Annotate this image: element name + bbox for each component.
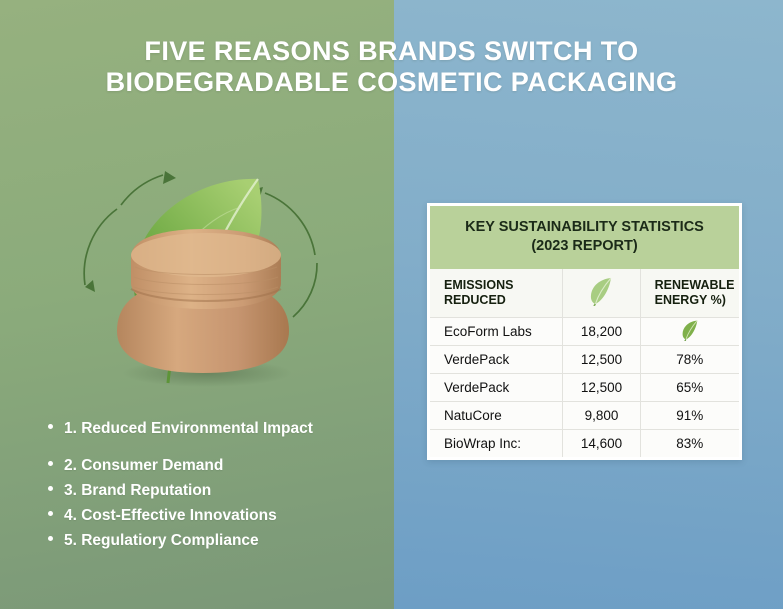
- leaf-icon: [680, 319, 700, 344]
- list-item-label: 5. Regulatiory Compliance: [64, 531, 259, 551]
- poster-title: FIVE REASONS BRANDS SWITCH TO BIODEGRADA…: [0, 36, 783, 98]
- cell-emissions: 12,500: [563, 345, 640, 373]
- table-header-row: EMISSIONS REDUCED RENEWAB: [430, 269, 739, 317]
- statistics-table: EMISSIONS REDUCED RENEWAB: [430, 269, 739, 457]
- cell-renewable: 83%: [640, 429, 739, 457]
- column-header-renewable: RENEWABLE ENERGY %): [640, 269, 739, 317]
- table-title: KEY SUSTAINABILITY STATISTICS (2023 REPO…: [430, 206, 739, 269]
- hero-illustration: [55, 135, 365, 400]
- bullet-dot-icon: [48, 486, 53, 491]
- cell-emissions: 14,600: [563, 429, 640, 457]
- column-header-leaf: [563, 269, 640, 317]
- list-item: 4. Cost-Effective Innovations: [48, 506, 398, 526]
- title-line-1: FIVE REASONS BRANDS SWITCH TO: [0, 36, 783, 67]
- cell-emissions: 9,800: [563, 401, 640, 429]
- column-header-emissions: EMISSIONS REDUCED: [430, 269, 563, 317]
- list-item: 3. Brand Reputation: [48, 481, 398, 501]
- table-row: VerdePack 12,500 78%: [430, 345, 739, 373]
- list-item: 5. Regulatiory Compliance: [48, 531, 398, 551]
- bullet-dot-icon: [48, 424, 53, 429]
- list-item-label: 4. Cost-Effective Innovations: [64, 506, 277, 526]
- cell-renewable: 91%: [640, 401, 739, 429]
- list-item: 2. Consumer Demand: [48, 456, 398, 476]
- table-row: NatuCore 9,800 91%: [430, 401, 739, 429]
- table-row: VerdePack 12,500 65%: [430, 373, 739, 401]
- title-line-2: BIODEGRADABLE COSMETIC PACKAGING: [0, 67, 783, 98]
- statistics-table-card: KEY SUSTAINABILITY STATISTICS (2023 REPO…: [427, 203, 742, 460]
- cell-company: BioWrap Inc:: [430, 429, 563, 457]
- cell-renewable: [640, 317, 739, 345]
- column-header-renewable-line-2: ENERGY %): [655, 293, 739, 308]
- cell-emissions: 12,500: [563, 373, 640, 401]
- cell-emissions: 18,200: [563, 317, 640, 345]
- list-item: 1. Reduced Environmental Impact: [48, 419, 398, 439]
- cell-company: VerdePack: [430, 373, 563, 401]
- table-title-line-1: KEY SUSTAINABILITY STATISTICS: [438, 218, 731, 237]
- bullet-dot-icon: [48, 511, 53, 516]
- list-item-label: 2. Consumer Demand: [64, 456, 223, 476]
- cell-company: VerdePack: [430, 345, 563, 373]
- column-header-emissions-line-2: REDUCED: [444, 293, 562, 308]
- table-row: EcoForm Labs 18,200: [430, 317, 739, 345]
- cosmetic-jar-icon: [117, 229, 289, 373]
- table-row: BioWrap Inc: 14,600 83%: [430, 429, 739, 457]
- bullet-dot-icon: [48, 536, 53, 541]
- infographic-poster: FIVE REASONS BRANDS SWITCH TO BIODEGRADA…: [0, 0, 783, 609]
- column-header-renewable-line-1: RENEWABLE: [655, 278, 739, 293]
- cell-renewable: 78%: [640, 345, 739, 373]
- list-item-label: 3. Brand Reputation: [64, 481, 211, 501]
- column-header-emissions-line-1: EMISSIONS: [444, 278, 562, 293]
- cell-renewable: 65%: [640, 373, 739, 401]
- list-item-label: 1. Reduced Environmental Impact: [64, 419, 313, 439]
- leaf-icon: [588, 276, 614, 310]
- bullet-dot-icon: [48, 461, 53, 466]
- cell-company: EcoForm Labs: [430, 317, 563, 345]
- reasons-list: 1. Reduced Environmental Impact 2. Consu…: [48, 419, 398, 556]
- cell-company: NatuCore: [430, 401, 563, 429]
- table-title-line-2: (2023 REPORT): [438, 237, 731, 256]
